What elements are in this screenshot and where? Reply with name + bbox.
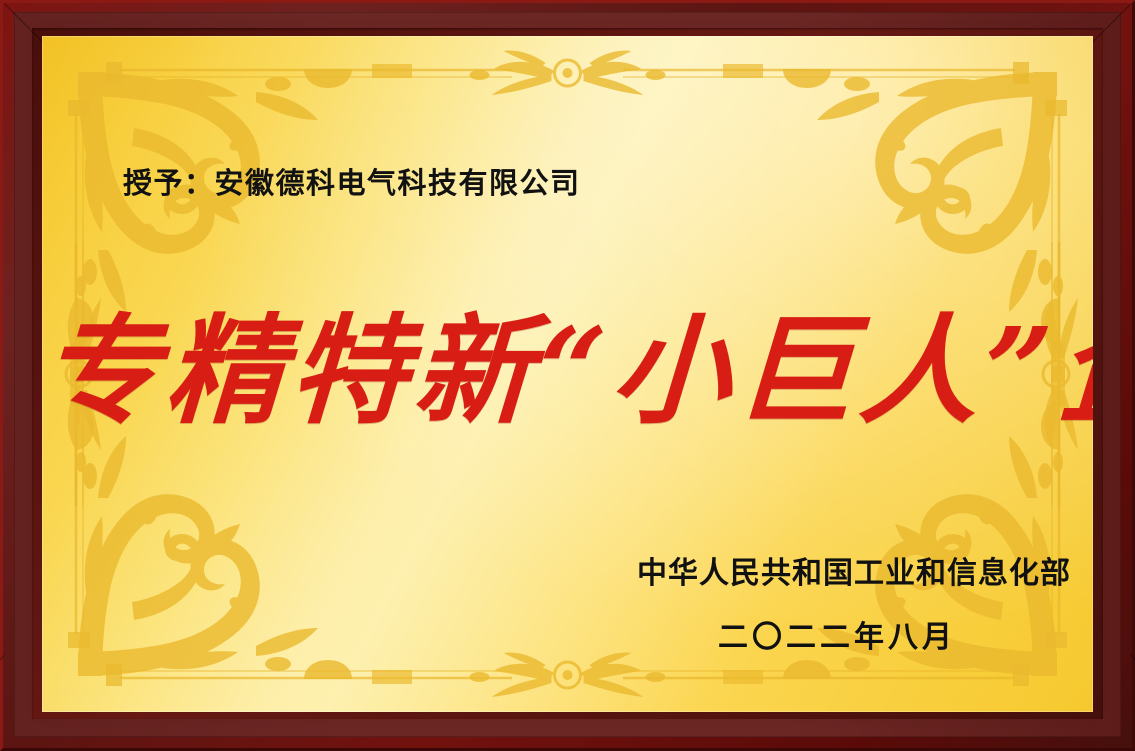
issue-date: 二〇二二年八月 — [637, 612, 1037, 656]
plaque-content: 授予：安徽德科电气科技有限公司 专精特新“小巨人”企业 中华人民共和国工业和信息… — [42, 36, 1093, 712]
award-title: 专精特新“小巨人”企业 — [42, 312, 1093, 430]
award-plaque: 授予：安徽德科电气科技有限公司 专精特新“小巨人”企业 中华人民共和国工业和信息… — [0, 0, 1135, 751]
issuing-authority: 中华人民共和国工业和信息化部 — [637, 548, 1037, 592]
gold-plate: 授予：安徽德科电气科技有限公司 专精特新“小巨人”企业 中华人民共和国工业和信息… — [42, 36, 1093, 712]
plaque-footer: 中华人民共和国工业和信息化部 二〇二二年八月 — [637, 548, 1037, 656]
awardee-line: 授予：安徽德科电气科技有限公司 — [123, 160, 581, 202]
